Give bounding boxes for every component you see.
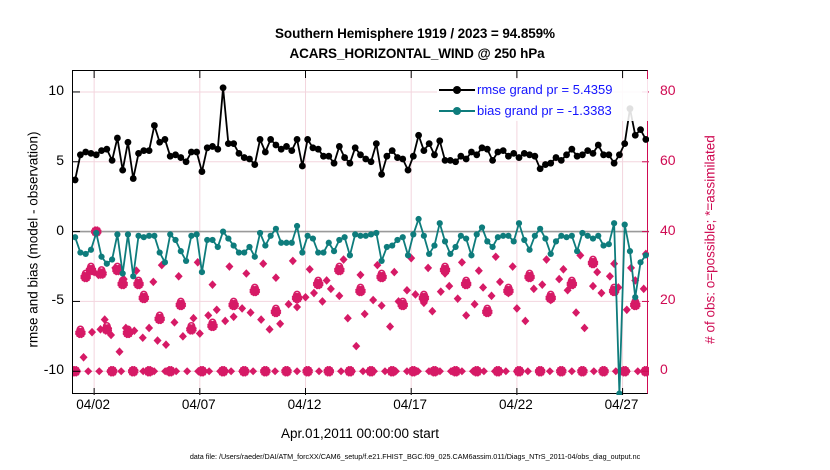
series-marker-bias — [452, 244, 458, 250]
x-tick-04/22: 04/22 — [486, 398, 546, 412]
obs-count-marker — [189, 314, 197, 323]
series-marker-rmse — [378, 171, 385, 178]
obs-count-marker — [80, 353, 88, 362]
obs-count-marker — [356, 271, 364, 280]
x-axis-title: Apr.01,2011 00:00:00 start — [0, 426, 720, 441]
x-tick-04/27: 04/27 — [592, 398, 652, 412]
series-marker-bias — [347, 252, 353, 258]
figure-canvas: Southern Hemisphere 1919 / 2023 = 94.859… — [0, 0, 830, 470]
series-marker-rmse — [220, 84, 227, 91]
series-marker-bias — [505, 233, 511, 239]
series-marker-bias — [257, 230, 263, 236]
obs-count-marker — [458, 258, 466, 267]
series-marker-rmse — [637, 126, 644, 133]
series-marker-bias — [88, 247, 94, 253]
legend-marker-bias — [437, 104, 477, 118]
series-marker-bias — [537, 226, 543, 232]
series-marker-rmse — [341, 154, 348, 161]
obs-assimilated-marker — [631, 301, 639, 309]
obs-assimilated-marker — [378, 273, 386, 281]
series-marker-rmse — [177, 154, 184, 161]
series-marker-bias — [363, 233, 369, 239]
series-marker-bias — [526, 247, 532, 253]
obs-count-marker — [259, 259, 267, 268]
series-marker-rmse — [273, 142, 280, 149]
series-marker-bias — [204, 237, 210, 243]
obs-count-marker — [225, 262, 233, 271]
series-marker-rmse — [595, 142, 602, 149]
obs-count-marker — [88, 328, 96, 337]
obs-zero-count-marker — [95, 367, 103, 375]
obs-count-marker — [335, 292, 343, 301]
series-marker-bias — [426, 251, 432, 257]
obs-count-marker — [509, 262, 517, 271]
obs-count-marker — [390, 268, 398, 277]
obs-count-marker — [276, 319, 284, 328]
series-marker-bias — [410, 231, 416, 237]
series-marker-bias — [289, 240, 295, 246]
obs-count-marker — [145, 324, 153, 333]
series-marker-rmse — [114, 135, 121, 142]
series-marker-bias — [146, 233, 152, 239]
y-tick-right-40: 40 — [660, 223, 700, 237]
series-marker-bias — [178, 248, 184, 254]
obs-count-marker — [149, 278, 157, 287]
obs-assimilated-marker — [483, 308, 491, 316]
obs-count-marker — [462, 311, 470, 320]
series-marker-rmse — [383, 153, 390, 160]
series-marker-rmse — [426, 140, 433, 147]
obs-zero-count-marker — [183, 367, 191, 375]
series-marker-bias — [125, 231, 131, 237]
series-marker-bias — [563, 234, 569, 240]
series-marker-bias — [405, 252, 411, 258]
series-marker-bias — [162, 259, 168, 265]
obs-zero-count-marker — [381, 367, 389, 375]
series-marker-bias — [394, 237, 400, 243]
series-marker-bias — [468, 252, 474, 258]
obs-count-marker — [209, 280, 217, 289]
obs-assimilated-marker — [462, 280, 470, 288]
obs-count-marker — [238, 304, 246, 313]
series-marker-bias — [98, 254, 104, 260]
series-marker-bias — [342, 234, 348, 240]
series-marker-bias — [400, 234, 406, 240]
series-marker-rmse — [531, 153, 538, 160]
obs-count-marker — [559, 265, 567, 274]
obs-count-marker — [424, 264, 432, 273]
series-marker-bias — [627, 248, 633, 254]
series-marker-rmse — [352, 144, 359, 151]
series-marker-bias — [416, 216, 422, 222]
series-marker-bias — [532, 233, 538, 239]
obs-count-marker — [213, 306, 221, 315]
series-marker-bias — [188, 233, 194, 239]
legend-item-bias[interactable]: bias grand pr = -1.3383 — [437, 100, 648, 121]
series-marker-rmse — [436, 137, 443, 144]
series-marker-bias — [606, 241, 612, 247]
series-marker-rmse — [146, 147, 153, 154]
series-marker-rmse — [500, 147, 507, 154]
series-marker-bias — [611, 220, 617, 226]
obs-zero-count-marker — [524, 367, 532, 375]
series-marker-bias — [474, 231, 480, 237]
series-marker-rmse — [357, 151, 364, 158]
series-marker-bias — [135, 233, 141, 239]
obs-count-marker — [572, 308, 580, 317]
series-marker-bias — [389, 242, 395, 248]
obs-count-marker — [170, 318, 178, 327]
series-marker-rmse — [405, 167, 412, 174]
series-marker-rmse — [315, 146, 322, 153]
series-marker-bias — [463, 235, 469, 241]
obs-count-marker — [257, 315, 265, 324]
series-marker-bias — [484, 238, 490, 244]
obs-assimilated-marker — [251, 287, 259, 295]
obs-count-marker — [403, 286, 411, 295]
series-marker-bias — [236, 249, 242, 255]
series-marker-rmse — [262, 149, 269, 156]
series-marker-rmse — [251, 161, 258, 168]
series-marker-rmse — [590, 150, 597, 157]
obs-count-marker — [445, 282, 453, 291]
series-marker-rmse — [299, 163, 306, 170]
series-marker-rmse — [183, 158, 190, 165]
obs-zero-count-marker — [84, 367, 92, 375]
obs-count-marker — [344, 314, 352, 323]
series-marker-bias — [141, 234, 147, 240]
series-marker-bias — [241, 249, 247, 255]
series-marker-rmse — [611, 160, 618, 167]
series-marker-bias — [93, 230, 99, 236]
series-marker-rmse — [125, 139, 132, 146]
series-marker-bias — [553, 238, 559, 244]
series-marker-rmse — [325, 153, 332, 160]
series-marker-bias — [479, 224, 485, 230]
obs-assimilated-marker — [177, 301, 185, 309]
series-marker-rmse — [368, 158, 375, 165]
series-marker-bias — [590, 235, 596, 241]
series-marker-bias — [574, 248, 580, 254]
chart-title-line1: Southern Hemisphere 1919 / 2023 = 94.859… — [0, 24, 830, 44]
series-marker-bias — [278, 240, 284, 246]
series-marker-bias — [215, 244, 221, 250]
series-marker-bias — [458, 233, 464, 239]
series-marker-bias — [262, 242, 268, 248]
series-marker-bias — [172, 237, 178, 243]
series-marker-bias — [569, 233, 575, 239]
data-file-note: data file: /Users/raeder/DAI/ATM_forcXX/… — [0, 452, 830, 461]
series-marker-rmse — [93, 151, 100, 158]
series-marker-rmse — [579, 151, 586, 158]
obs-count-marker — [538, 280, 546, 289]
series-marker-rmse — [547, 160, 554, 167]
series-marker-rmse — [473, 151, 480, 158]
series-marker-bias — [437, 220, 443, 226]
series-marker-rmse — [510, 150, 517, 157]
obs-count-marker — [378, 301, 386, 310]
series-marker-bias — [511, 238, 517, 244]
obs-zero-count-marker — [568, 367, 576, 375]
x-tick-04/17: 04/17 — [380, 398, 440, 412]
series-marker-bias — [442, 238, 448, 244]
obs-zero-count-marker — [480, 367, 488, 375]
series-marker-rmse — [130, 175, 137, 182]
series-marker-rmse — [283, 143, 290, 150]
obs-count-marker — [521, 317, 529, 326]
series-marker-bias — [500, 233, 506, 239]
series-marker-bias — [585, 233, 591, 239]
series-marker-bias — [299, 249, 305, 255]
obs-count-marker — [369, 296, 377, 305]
obs-count-marker — [340, 255, 348, 264]
series-marker-bias — [225, 235, 231, 241]
series-marker-rmse — [230, 140, 237, 147]
obs-assimilated-marker — [230, 301, 238, 309]
series-marker-bias — [542, 235, 548, 241]
obs-zero-count-marker — [315, 367, 323, 375]
legend-label-bias: bias grand pr = -1.3383 — [477, 104, 612, 118]
series-marker-rmse — [373, 140, 380, 147]
series-marker-bias — [352, 231, 358, 237]
y-axis-left-title: rmse and bias (model - observation) — [26, 90, 41, 390]
obs-count-marker — [247, 308, 255, 317]
series-marker-rmse — [621, 140, 628, 147]
obs-count-marker — [581, 324, 589, 333]
obs-count-marker — [306, 265, 314, 274]
chart-title: Southern Hemisphere 1919 / 2023 = 94.859… — [0, 24, 830, 64]
legend-item-rmse[interactable]: rmse grand pr = 5.4359 — [437, 79, 648, 100]
series-marker-rmse — [257, 136, 264, 143]
obs-count-marker — [116, 347, 124, 356]
obs-count-marker — [310, 289, 318, 298]
series-marker-rmse — [558, 157, 565, 164]
obs-count-marker — [492, 252, 500, 261]
series-marker-bias — [600, 242, 606, 248]
obs-count-marker — [475, 266, 483, 275]
series-marker-rmse — [151, 122, 158, 129]
obs-count-marker — [175, 272, 183, 281]
series-marker-rmse — [193, 149, 200, 156]
obs-count-marker — [352, 342, 360, 351]
obs-zero-count-marker — [502, 367, 510, 375]
series-marker-rmse — [246, 156, 253, 163]
obs-zero-count-marker — [546, 367, 554, 375]
series-marker-bias — [77, 249, 83, 255]
obs-count-marker — [496, 278, 504, 287]
series-marker-bias — [495, 234, 501, 240]
x-tick-04/07: 04/07 — [169, 398, 229, 412]
obs-count-marker — [154, 336, 162, 345]
series-marker-rmse — [331, 160, 338, 167]
series-marker-bias — [294, 223, 300, 229]
obs-zero-count-marker — [249, 367, 257, 375]
obs-count-marker — [437, 287, 445, 296]
obs-count-marker — [289, 257, 297, 266]
series-marker-bias — [151, 233, 157, 239]
series-marker-bias — [595, 233, 601, 239]
obs-count-marker — [640, 285, 648, 294]
y-tick-right-80: 80 — [660, 83, 700, 97]
series-marker-bias — [516, 220, 522, 226]
obs-assimilated-marker — [272, 308, 280, 316]
series-marker-bias — [209, 237, 215, 243]
series-marker-bias — [273, 226, 279, 232]
series-marker-bias — [373, 230, 379, 236]
obs-assimilated-marker — [209, 322, 217, 330]
obs-count-marker — [204, 311, 212, 320]
series-marker-bias — [194, 231, 200, 237]
series-marker-rmse — [605, 151, 612, 158]
series-marker-rmse — [642, 136, 649, 143]
obs-count-marker — [327, 285, 335, 294]
series-marker-rmse — [288, 147, 295, 154]
series-marker-bias — [310, 235, 316, 241]
obs-count-marker — [162, 340, 170, 349]
series-marker-rmse — [389, 147, 396, 154]
series-marker-rmse — [568, 146, 575, 153]
series-marker-rmse — [537, 165, 544, 172]
series-marker-rmse — [103, 146, 110, 153]
series-marker-bias — [357, 233, 363, 239]
series-marker-bias — [447, 251, 453, 257]
obs-count-marker — [479, 283, 487, 292]
obs-assimilated-marker — [314, 280, 322, 288]
series-marker-rmse — [304, 136, 311, 143]
series-marker-bias — [220, 229, 226, 235]
obs-count-marker — [530, 285, 538, 294]
series-marker-bias — [268, 233, 274, 239]
obs-count-marker — [139, 333, 147, 342]
y-tick-left--5: -5 — [18, 292, 64, 306]
x-tick-04/02: 04/02 — [63, 398, 123, 412]
obs-count-marker — [606, 272, 614, 281]
obs-zero-count-marker — [271, 367, 279, 375]
x-tick-04/12: 04/12 — [275, 398, 335, 412]
obs-count-marker — [488, 292, 496, 301]
obs-zero-count-marker — [634, 367, 642, 375]
series-marker-rmse — [489, 157, 496, 164]
series-marker-bias — [114, 231, 120, 237]
obs-zero-count-marker — [590, 367, 598, 375]
series-marker-bias — [431, 242, 437, 248]
series-marker-rmse — [616, 151, 623, 158]
obs-assimilated-marker — [357, 287, 365, 295]
series-marker-bias — [643, 252, 649, 258]
obs-assimilated-marker — [82, 273, 90, 281]
series-marker-bias — [283, 240, 289, 246]
obs-count-marker — [293, 303, 301, 312]
series-marker-bias — [109, 256, 115, 262]
obs-count-marker — [610, 259, 618, 268]
series-marker-rmse — [162, 136, 169, 143]
series-marker-rmse — [516, 154, 523, 161]
series-marker-rmse — [415, 132, 422, 139]
obs-count-marker — [221, 317, 229, 326]
series-marker-rmse — [463, 156, 470, 163]
series-marker-bias — [320, 249, 326, 255]
obs-count-marker — [513, 304, 521, 313]
series-marker-bias — [421, 233, 427, 239]
series-marker-bias — [632, 294, 638, 300]
series-marker-bias — [579, 230, 585, 236]
y-tick-right-60: 60 — [660, 153, 700, 167]
obs-count-marker — [411, 290, 419, 299]
series-marker-rmse — [236, 150, 243, 157]
series-marker-rmse — [267, 136, 274, 143]
series-marker-bias — [199, 269, 205, 275]
obs-zero-count-marker — [205, 367, 213, 375]
obs-assimilated-marker — [156, 315, 164, 323]
obs-count-marker — [386, 322, 394, 331]
series-marker-bias — [548, 251, 554, 257]
series-marker-rmse — [73, 177, 79, 184]
obs-assimilated-marker — [76, 329, 84, 337]
legend-label-rmse: rmse grand pr = 5.4359 — [477, 83, 613, 97]
obs-assimilated-marker — [335, 266, 343, 274]
obs-count-marker — [272, 273, 280, 282]
obs-count-marker — [623, 306, 631, 315]
series-marker-rmse — [336, 143, 343, 150]
obs-count-marker — [196, 329, 204, 338]
series-marker-rmse — [410, 153, 417, 160]
obs-count-marker — [555, 275, 563, 284]
obs-count-marker — [230, 312, 238, 321]
obs-count-marker — [589, 282, 597, 291]
obs-zero-count-marker — [293, 367, 301, 375]
series-marker-rmse — [632, 132, 639, 139]
series-marker-bias — [231, 242, 237, 248]
y-tick-right-0: 0 — [660, 362, 700, 376]
obs-count-marker — [179, 332, 187, 341]
series-marker-rmse — [214, 146, 221, 153]
obs-assimilated-marker — [589, 259, 597, 267]
obs-count-marker — [318, 297, 326, 306]
obs-count-marker — [593, 268, 601, 277]
series-marker-bias — [73, 234, 78, 240]
obs-zero-count-marker — [117, 367, 125, 375]
series-marker-rmse — [119, 167, 126, 174]
obs-count-marker — [361, 310, 369, 319]
series-marker-rmse — [563, 151, 570, 158]
series-marker-bias — [521, 237, 527, 243]
obs-assimilated-marker — [135, 280, 143, 288]
obs-assimilated-marker — [187, 325, 195, 333]
y-tick-left-5: 5 — [18, 153, 64, 167]
series-marker-bias — [326, 240, 332, 246]
chart-legend: rmse grand pr = 5.4359 bias grand pr = -… — [437, 79, 648, 121]
obs-count-marker — [302, 293, 310, 302]
series-marker-bias — [616, 391, 622, 395]
series-marker-rmse — [420, 147, 427, 154]
series-marker-bias — [157, 249, 163, 255]
series-marker-bias — [120, 270, 126, 276]
obs-assimilated-marker — [568, 280, 576, 288]
obs-count-marker — [323, 276, 331, 285]
series-marker-rmse — [109, 157, 116, 164]
obs-count-marker — [266, 325, 274, 334]
series-marker-bias — [104, 261, 110, 267]
obs-assimilated-marker — [140, 294, 148, 302]
series-marker-bias — [83, 251, 89, 257]
y-tick-left-10: 10 — [18, 83, 64, 97]
series-marker-bias — [368, 231, 374, 237]
series-marker-bias — [252, 254, 258, 260]
obs-assimilated-marker — [293, 294, 301, 302]
series-marker-bias — [558, 233, 564, 239]
y-tick-right-20: 20 — [660, 292, 700, 306]
series-marker-bias — [167, 231, 173, 237]
